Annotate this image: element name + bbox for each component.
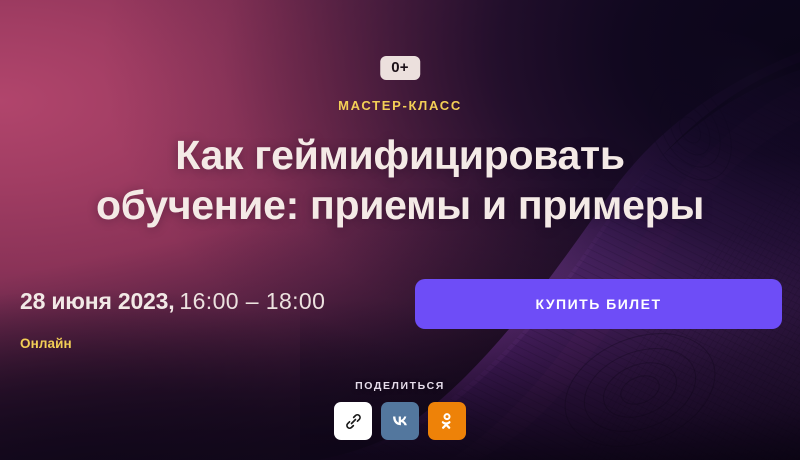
buy-ticket-button[interactable]: КУПИТЬ БИЛЕТ xyxy=(415,279,782,329)
share-copy-link-button[interactable] xyxy=(334,402,372,440)
event-time: 16:00 – 18:00 xyxy=(179,288,325,314)
event-format-label: Онлайн xyxy=(20,336,72,351)
event-hero-banner: 0+ МАСТЕР-КЛАСС Как геймифицировать обуч… xyxy=(0,0,800,460)
page-title: Как геймифицировать обучение: приемы и п… xyxy=(0,130,800,230)
share-section: ПОДЕЛИТЬСЯ xyxy=(0,380,800,440)
event-datetime: 28 июня 2023,16:00 – 18:00 xyxy=(20,288,325,315)
share-vkontakte-button[interactable] xyxy=(381,402,419,440)
event-type-kicker: МАСТЕР-КЛАСС xyxy=(0,98,800,113)
share-label: ПОДЕЛИТЬСЯ xyxy=(355,380,445,392)
vk-icon xyxy=(389,410,411,432)
share-icon-list xyxy=(334,402,466,440)
ok-icon xyxy=(437,410,457,432)
hero-content: 0+ МАСТЕР-КЛАСС Как геймифицировать обуч… xyxy=(0,0,800,460)
age-rating-badge: 0+ xyxy=(380,56,420,80)
event-date: 28 июня 2023, xyxy=(20,288,174,314)
share-odnoklassniki-button[interactable] xyxy=(428,402,466,440)
link-icon xyxy=(344,412,363,431)
